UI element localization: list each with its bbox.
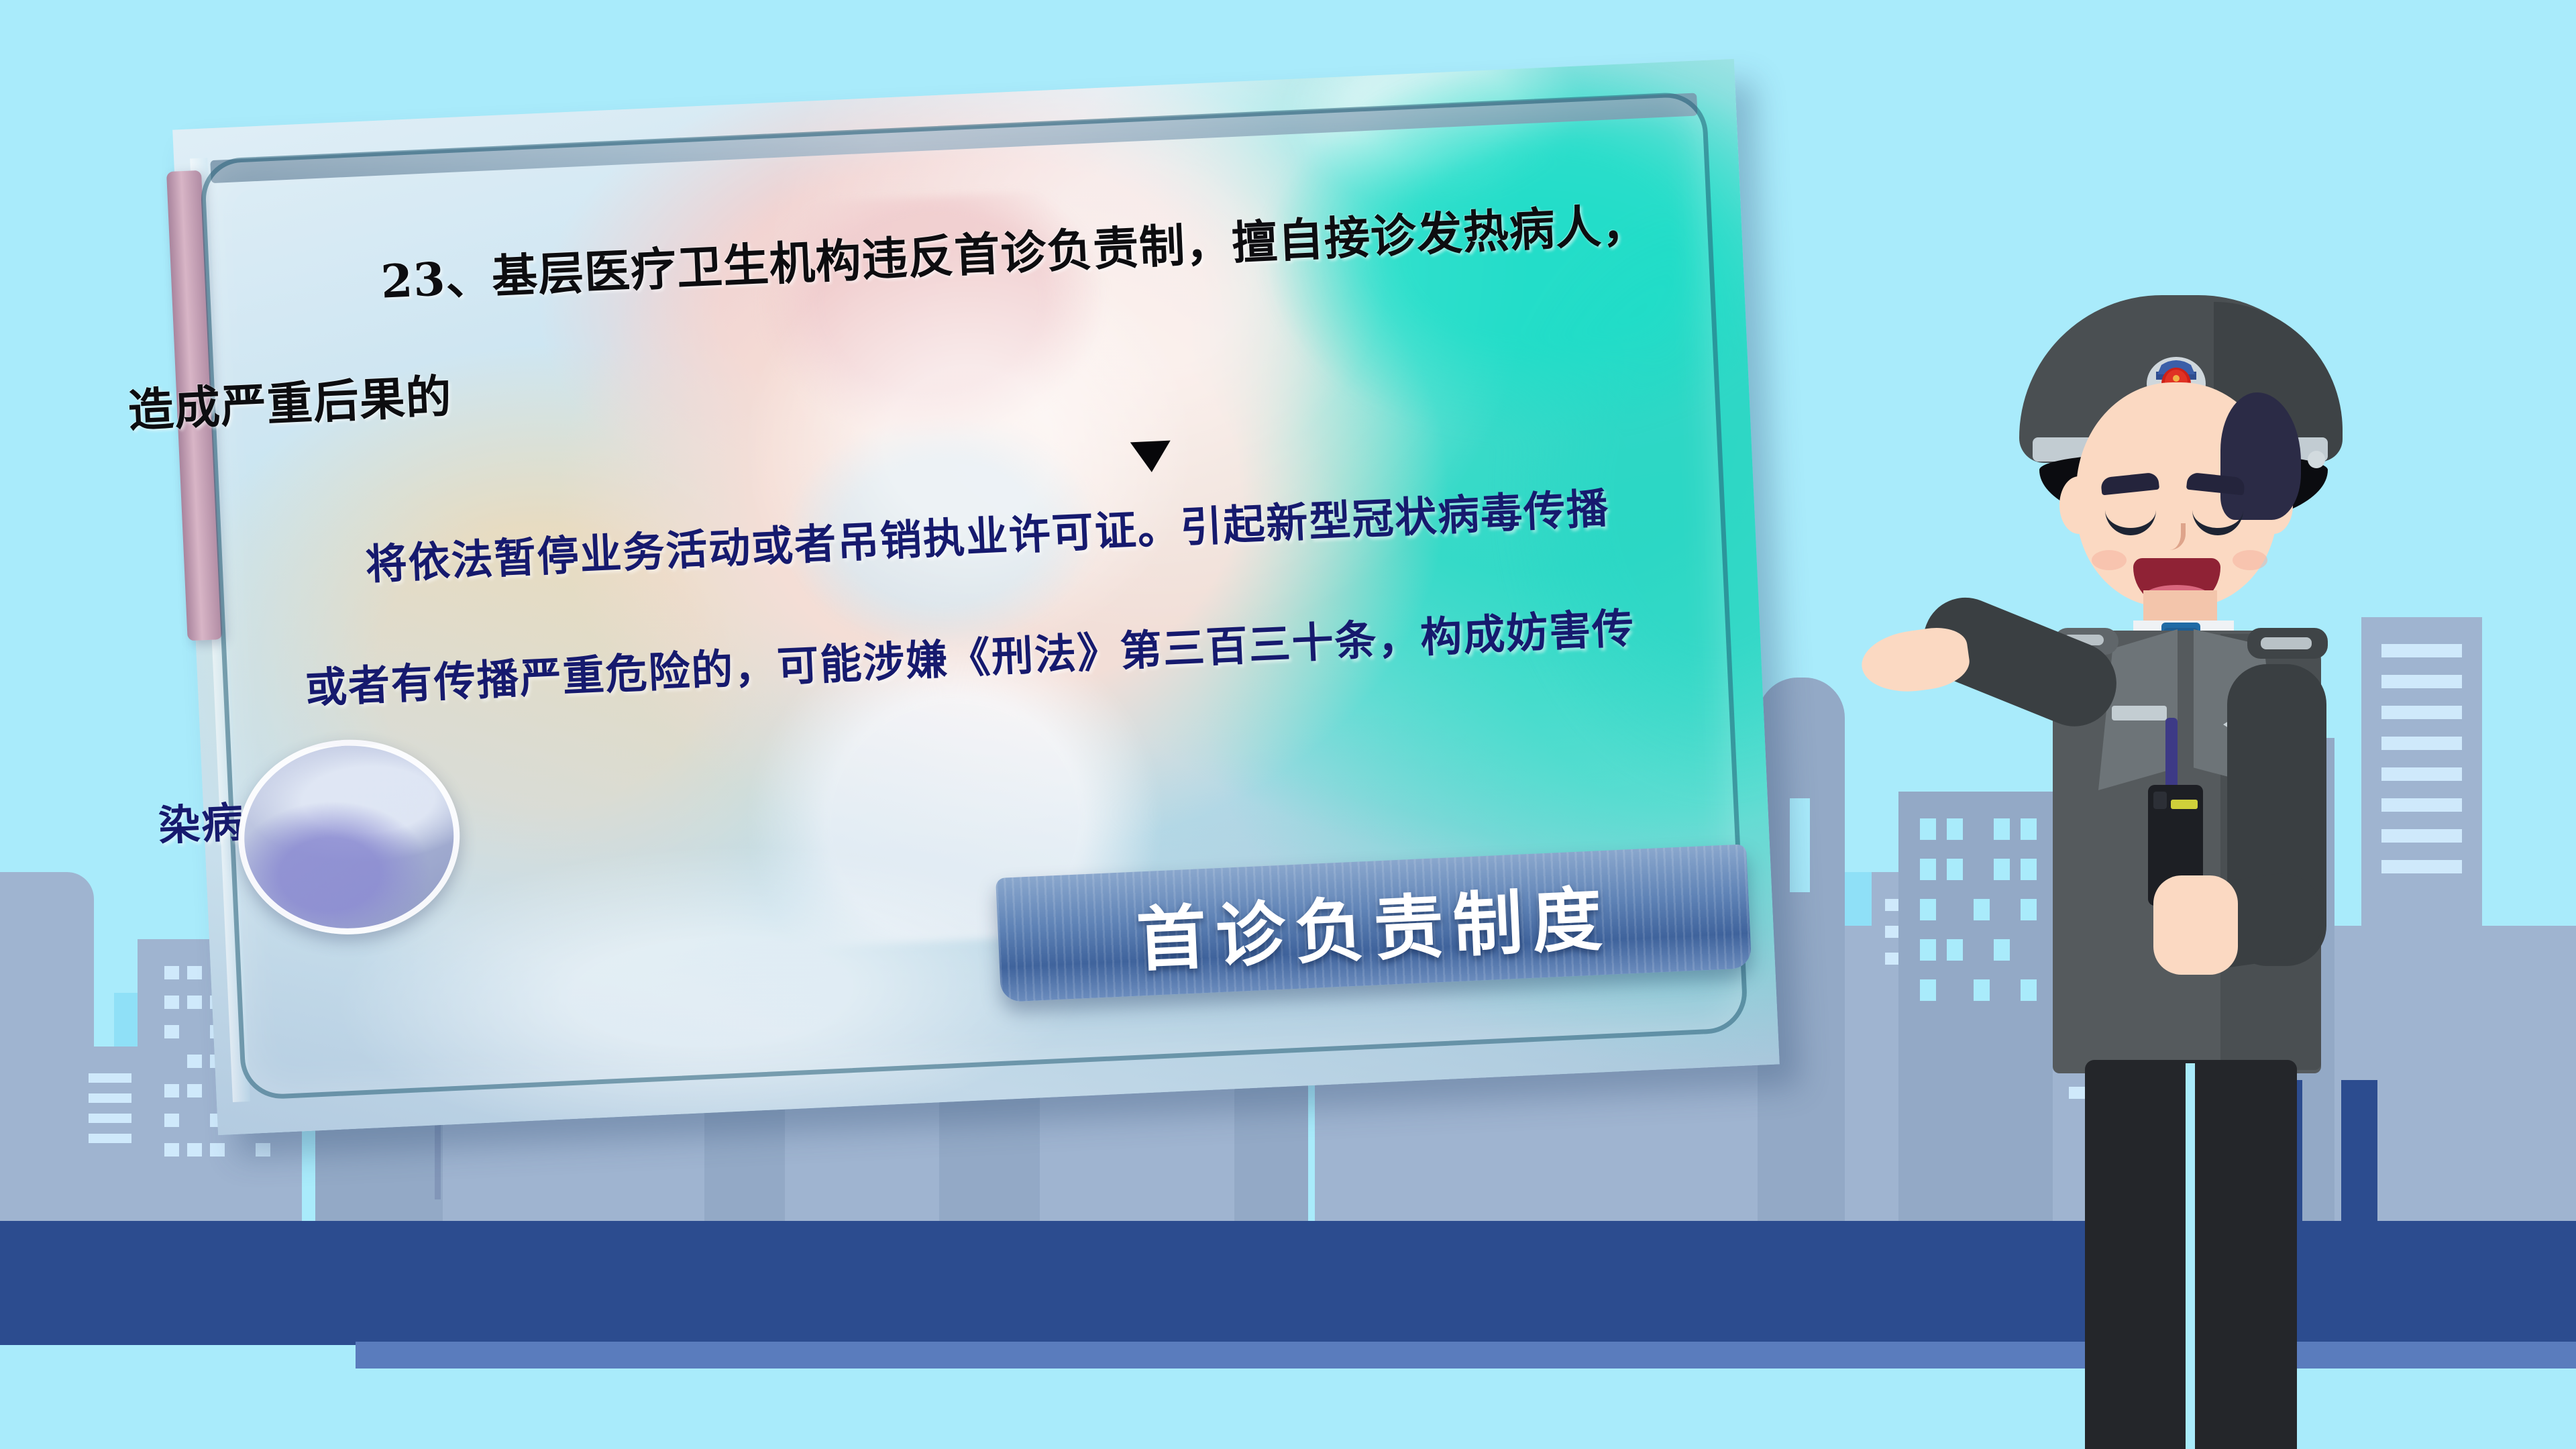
walkie-talkie-indicator (2171, 800, 2198, 809)
billboard[interactable]: 23、基层医疗卫生机构违反首诊负责制，擅自接诊发热病人， 造成严重后果的 将依法… (172, 59, 1780, 1135)
down-triangle-marker-icon (1130, 441, 1172, 474)
name-tag (2112, 706, 2167, 720)
cheek-left (2092, 550, 2127, 570)
police-cap-strap-button (2308, 451, 2325, 468)
walkie-talkie-knob (2153, 792, 2167, 809)
police-officer-character (1932, 255, 2428, 1395)
leg-gap (2186, 1063, 2195, 1449)
thumb-right (2160, 879, 2202, 918)
scene-background: 23、基层医疗卫生机构违反首诊负责制，擅自接诊发热病人， 造成严重后果的 将依法… (0, 0, 2576, 1449)
epaulet-right (2261, 637, 2312, 649)
cheek-right (2233, 550, 2267, 570)
hand-left-open-palm (1858, 623, 1973, 698)
